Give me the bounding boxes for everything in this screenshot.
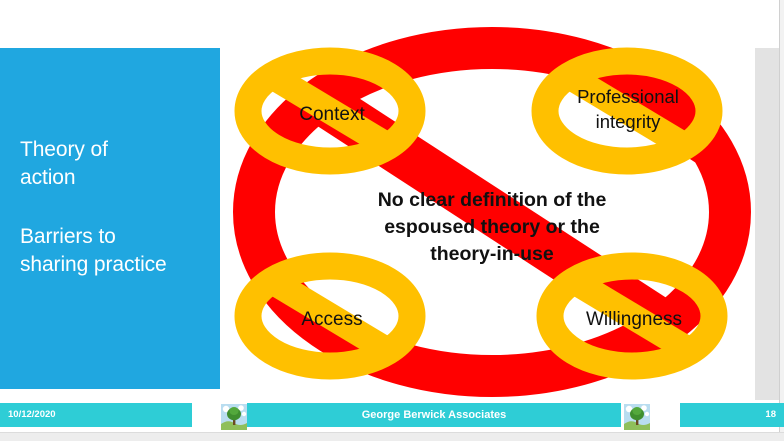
panel-heading-line-1: Theory of (20, 136, 205, 164)
left-blue-panel: Theory of action Barriers to sharing pra… (0, 48, 220, 389)
slide-footer: 10/12/2020 George Berwick Associates 18 (0, 403, 784, 429)
panel-text-spacer (20, 191, 205, 223)
panel-subheading-line-1: Barriers to (20, 223, 205, 251)
footer-date: 10/12/2020 (8, 403, 56, 427)
tree-logo-icon-right (624, 404, 650, 430)
barrier-label-context: Context (299, 104, 365, 125)
barrier-label-willingness: Willingness (586, 309, 682, 330)
tree-logo-icon-left (221, 404, 247, 430)
barrier-label-professional-integrity-line-1: Professional (577, 86, 679, 107)
footer-organisation: George Berwick Associates (247, 403, 621, 427)
window-right-edge (779, 0, 784, 440)
center-text-line-3: theory-in-use (430, 243, 554, 265)
panel-heading-line-2: action (20, 164, 205, 192)
left-panel-text-block: Theory of action Barriers to sharing pra… (20, 136, 205, 279)
center-text-line-2: espoused theory or the (384, 216, 600, 238)
footer-page-number: 18 (680, 403, 776, 427)
barrier-label-access: Access (301, 309, 362, 330)
center-text-line-1: No clear definition of the (378, 189, 607, 211)
panel-subheading-line-2: sharing practice (20, 251, 205, 279)
right-side-panel (755, 48, 779, 400)
barrier-label-professional-integrity-line-2: integrity (596, 111, 662, 132)
barriers-prohibition-diagram: No clear definition of the espoused theo… (232, 26, 752, 398)
slide-root: Theory of action Barriers to sharing pra… (0, 0, 784, 440)
